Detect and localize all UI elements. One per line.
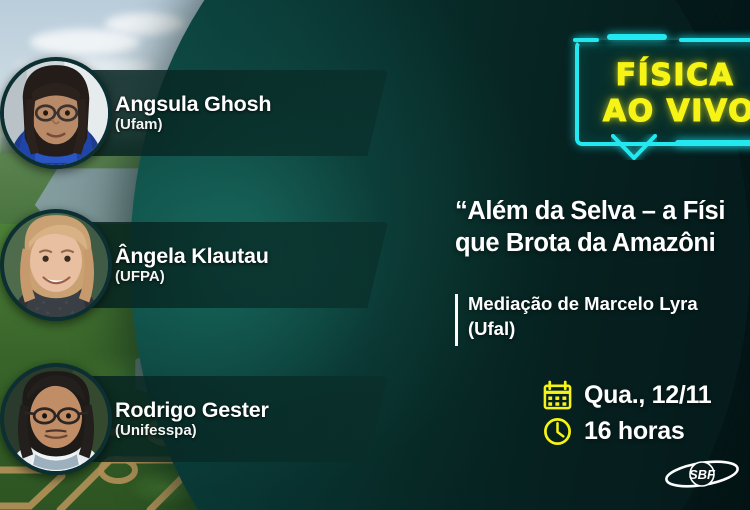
avatar bbox=[0, 363, 112, 475]
avatar-photo-icon bbox=[4, 367, 108, 471]
schedule-time-row: 16 horas bbox=[542, 416, 711, 447]
avatar-photo-icon bbox=[4, 213, 108, 317]
speaker-name: Ângela Klautau bbox=[115, 245, 269, 267]
speaker-name: Angsula Ghosh bbox=[115, 93, 271, 115]
badge-line-1: FÍSICA bbox=[575, 58, 750, 93]
clock-icon bbox=[542, 416, 573, 447]
avatar bbox=[0, 57, 112, 169]
schedule-time: 16 horas bbox=[584, 417, 684, 446]
event-title-line-1: “Além da Selva – a Físi bbox=[455, 196, 750, 228]
live-badge: FÍSICA AO VIVO bbox=[575, 28, 750, 148]
event-title-line-2: que Brota da Amazôni bbox=[455, 228, 750, 260]
event-poster: Angsula Ghosh (Ufam) bbox=[0, 0, 750, 510]
badge-top-right-segment bbox=[679, 38, 750, 42]
mediation-line-2: (Ufal) bbox=[468, 317, 750, 342]
sbf-logo-text: SBF bbox=[689, 467, 716, 482]
badge-border bbox=[575, 40, 750, 146]
mediation-line-1: Mediação de Marcelo Lyra bbox=[468, 292, 750, 317]
speaker-text: Angsula Ghosh (Ufam) bbox=[115, 93, 271, 133]
badge-bottom-dash bbox=[675, 140, 750, 146]
speaker-affiliation: (UFPA) bbox=[115, 269, 269, 285]
speaker-text: Ângela Klautau (UFPA) bbox=[115, 245, 269, 285]
calendar-icon bbox=[542, 380, 573, 411]
speech-bubble-tail-icon bbox=[611, 134, 657, 160]
event-title: “Além da Selva – a Físi que Brota da Ama… bbox=[455, 196, 750, 259]
schedule-date-row: Qua., 12/11 bbox=[542, 380, 711, 411]
badge-line-2: AO VIVO bbox=[575, 94, 750, 129]
speaker-affiliation: (Unifesspa) bbox=[115, 423, 269, 439]
speaker-affiliation: (Ufam) bbox=[115, 117, 271, 133]
mediation-block: Mediação de Marcelo Lyra (Ufal) bbox=[455, 292, 750, 342]
schedule-date: Qua., 12/11 bbox=[584, 381, 711, 410]
badge-top-dash bbox=[607, 34, 667, 40]
speaker-name: Rodrigo Gester bbox=[115, 399, 269, 421]
speaker-text: Rodrigo Gester (Unifesspa) bbox=[115, 399, 269, 439]
schedule-block: Qua., 12/11 16 horas bbox=[542, 380, 711, 452]
avatar bbox=[0, 209, 112, 321]
sbf-logo[interactable]: SBF bbox=[662, 455, 742, 493]
badge-top-left-segment bbox=[573, 38, 599, 42]
avatar-photo-icon bbox=[4, 61, 108, 165]
